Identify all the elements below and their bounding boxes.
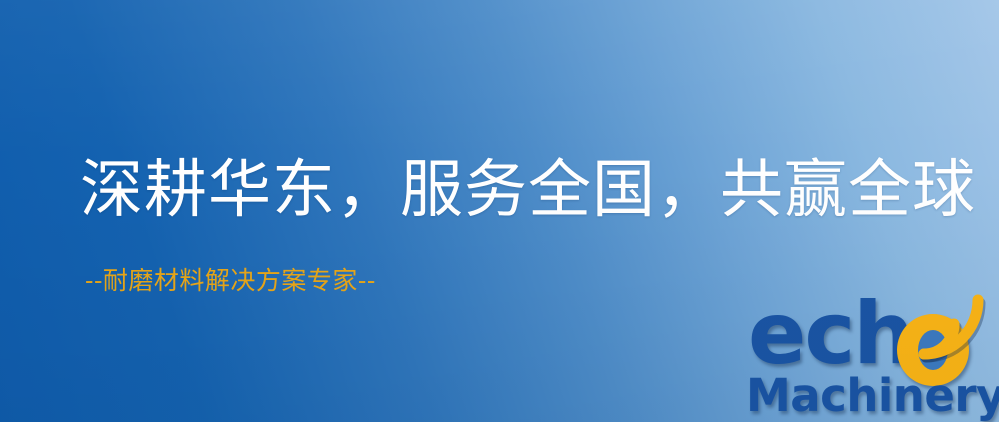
- logo-brand-word: Machinery: [746, 369, 999, 422]
- logo-text-ech: ech: [748, 288, 913, 380]
- signal-arcs-icon: [918, 292, 996, 358]
- logo-brand-text: Machinery®: [746, 370, 999, 422]
- banner-subtitle: --耐磨材料解决方案专家--: [85, 264, 376, 298]
- banner-headline: 深耕华东，服务全国，共赢全球: [80, 152, 976, 228]
- hero-banner: 深耕华东，服务全国，共赢全球 --耐磨材料解决方案专家-- ech Machin…: [0, 0, 999, 422]
- echo-machinery-logo[interactable]: ech Machinery®: [744, 292, 996, 422]
